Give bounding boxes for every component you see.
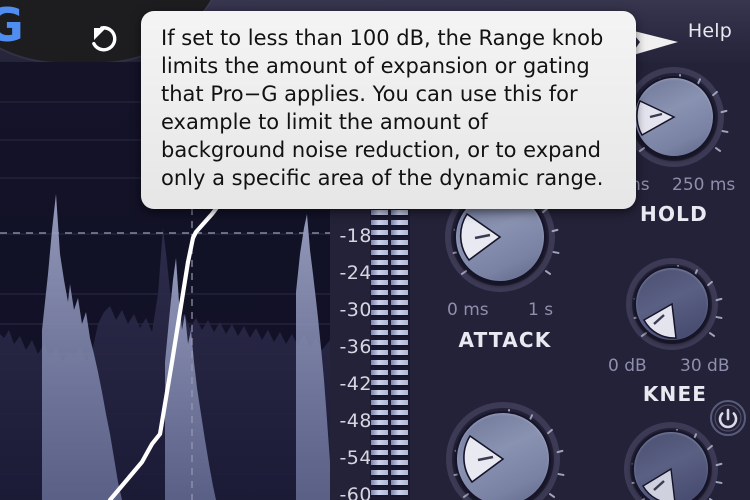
meter-segment [391, 450, 408, 457]
meter-column-right [391, 180, 408, 500]
scale-label: -30 [326, 299, 372, 321]
meter-segment [391, 480, 408, 487]
meter-segment [371, 480, 388, 487]
meter-segment [391, 370, 408, 377]
meter-segment [371, 360, 388, 367]
meter-segment [391, 250, 408, 257]
range-knob-pointer [624, 422, 718, 500]
meter-segment [391, 490, 408, 497]
meter-segment [391, 410, 408, 417]
meter-segment [391, 340, 408, 347]
tooltip-pointer [630, 28, 680, 58]
meter-segment [371, 300, 388, 307]
meter-segment [391, 390, 408, 397]
knee-min-label: 0 dB [608, 356, 647, 376]
meter-segment [371, 490, 388, 497]
meter-segment [371, 410, 388, 417]
scale-label: -18 [326, 225, 372, 247]
hold-max-label: 250 ms [672, 175, 735, 195]
meter-segment [371, 390, 388, 397]
meter-segment [391, 330, 408, 337]
meter-segment [371, 260, 388, 267]
meter-segment [371, 250, 388, 257]
scale-label: -60 [326, 484, 372, 500]
meter-segment [391, 320, 408, 327]
plugin-window: -12 -18 -24 -30 -36 -42 -48 -54 -60 0 ms… [0, 0, 750, 500]
meter-segment [391, 220, 408, 227]
meter-segment [371, 370, 388, 377]
meter-segment [371, 420, 388, 427]
scale-label: -42 [326, 373, 372, 395]
power-icon [712, 402, 744, 434]
knee-knob-pointer [626, 258, 718, 350]
meter-segment [371, 400, 388, 407]
meter-segment [371, 310, 388, 317]
meter-segment [371, 450, 388, 457]
meter-segment [391, 400, 408, 407]
meter-segment [371, 230, 388, 237]
tooltip-text: If set to less than 100 dB, the Range kn… [161, 25, 618, 193]
meter-segment [391, 380, 408, 387]
scale-label: -48 [326, 410, 372, 432]
meter-segment [371, 210, 388, 217]
meter-segment [391, 430, 408, 437]
meter-segment [391, 280, 408, 287]
meter-segment [391, 460, 408, 467]
meter-segment [371, 330, 388, 337]
meter-segment [391, 420, 408, 427]
meter-segment [391, 360, 408, 367]
meter-segment [371, 440, 388, 447]
meter-segment [371, 470, 388, 477]
meter-segment [371, 380, 388, 387]
meter-segment [391, 350, 408, 357]
meter-segment [371, 280, 388, 287]
release-knob-pointer [446, 402, 560, 500]
undo-arrow-icon [86, 20, 126, 54]
scale-label: -24 [326, 262, 372, 284]
meter-segment [371, 350, 388, 357]
meter-segment [391, 260, 408, 267]
meter-column-left [371, 180, 388, 500]
brand-logo: G [0, 4, 20, 48]
meter-segment [391, 210, 408, 217]
attack-max-label: 1 s [528, 300, 553, 320]
meter-segment [391, 440, 408, 447]
knee-max-label: 30 dB [680, 356, 730, 376]
meter-segment [391, 310, 408, 317]
scale-label: -36 [326, 336, 372, 358]
meter-segment [371, 220, 388, 227]
undo-button[interactable] [86, 20, 126, 54]
meter-segment [391, 290, 408, 297]
meter-segment [371, 270, 388, 277]
meter-segment [371, 320, 388, 327]
meter-segment [391, 300, 408, 307]
bypass-power-button[interactable] [710, 400, 746, 436]
meter-segment [371, 240, 388, 247]
attack-label: ATTACK [425, 328, 585, 352]
meter-segment [391, 230, 408, 237]
meter-segment [371, 430, 388, 437]
level-meters [370, 180, 410, 500]
meter-segment [391, 240, 408, 247]
knob-release[interactable] [428, 398, 578, 500]
help-button[interactable]: Help [680, 18, 740, 44]
meter-segment [391, 270, 408, 277]
knob-knee[interactable]: 0 dB 30 dB KNEE [605, 258, 745, 398]
meter-segment [371, 460, 388, 467]
scale-label: -54 [326, 447, 372, 469]
hold-knob-pointer [624, 67, 724, 167]
meter-segment [371, 340, 388, 347]
meter-segment [391, 470, 408, 477]
meter-segment [371, 290, 388, 297]
tooltip: If set to less than 100 dB, the Range kn… [141, 11, 636, 209]
attack-min-label: 0 ms [447, 300, 489, 320]
